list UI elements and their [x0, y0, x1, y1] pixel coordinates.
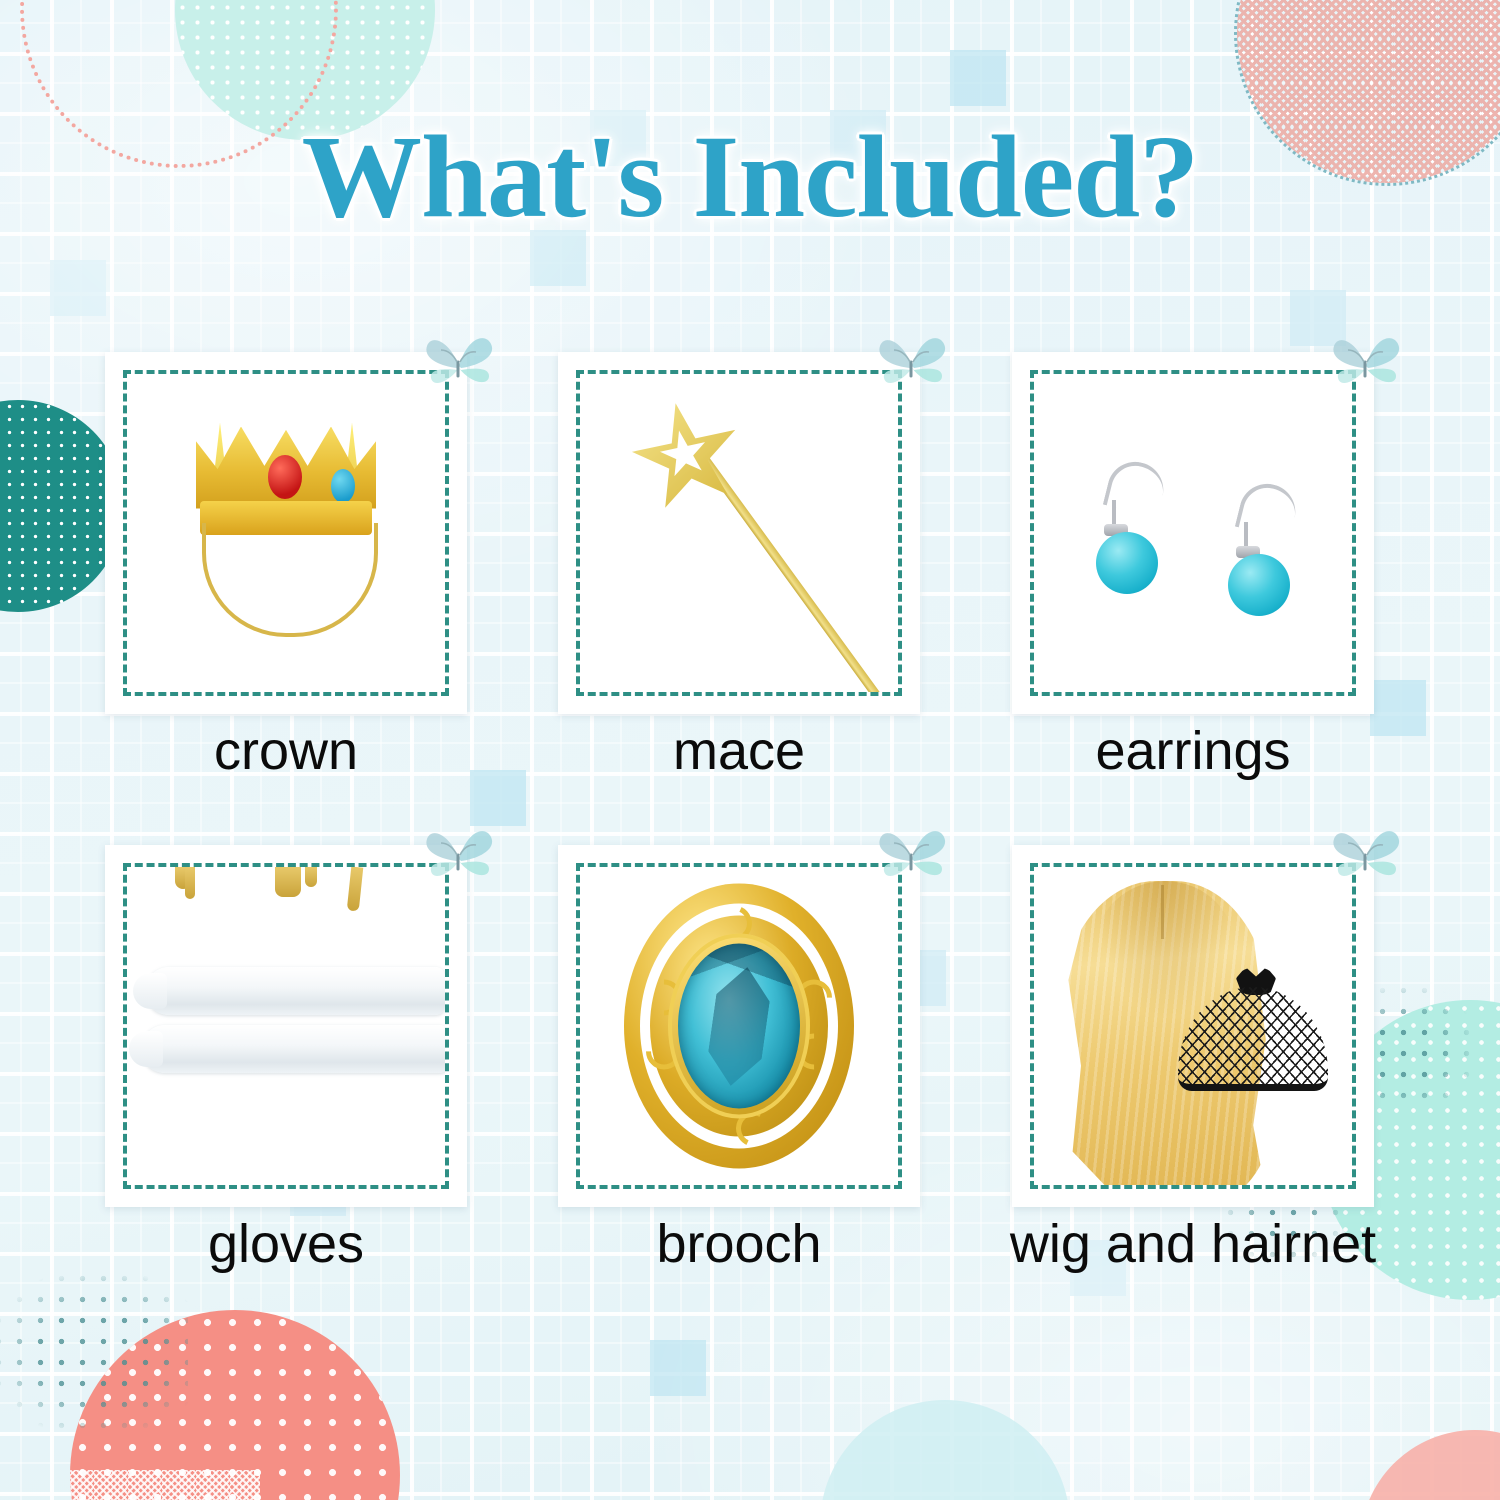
- dashed-frame: [123, 370, 449, 696]
- crown-photo: [127, 374, 445, 692]
- dashed-frame: [576, 370, 902, 696]
- item-card-mace[interactable]: mace: [558, 352, 920, 714]
- dashed-frame: [576, 863, 902, 1189]
- item-caption-gloves: gloves: [105, 1217, 467, 1271]
- dashed-frame: [123, 863, 449, 1189]
- item-caption-mace: mace: [558, 724, 920, 778]
- mace-photo: [580, 374, 898, 692]
- gloves-photo: [127, 867, 445, 1185]
- dot-cluster-bottom-left: [0, 1268, 188, 1438]
- earrings-photo: [1034, 374, 1352, 692]
- dashed-frame: [1030, 370, 1356, 696]
- item-caption-brooch: brooch: [558, 1217, 920, 1271]
- infographic-canvas: What's Included?: [0, 0, 1500, 1500]
- brooch-photo: [580, 867, 898, 1185]
- item-card-earrings[interactable]: earrings: [1012, 352, 1374, 714]
- item-caption-crown: crown: [105, 724, 467, 778]
- item-card-wig-and-hairnet[interactable]: wig and hairnet: [1012, 845, 1374, 1207]
- item-card-gloves[interactable]: gloves: [105, 845, 467, 1207]
- dashed-frame: [1030, 863, 1356, 1189]
- item-caption-wig-and-hairnet: wig and hairnet: [992, 1217, 1394, 1271]
- item-card-crown[interactable]: crown: [105, 352, 467, 714]
- item-caption-earrings: earrings: [1012, 724, 1374, 778]
- wig-hairnet-photo: [1034, 867, 1352, 1185]
- item-card-brooch[interactable]: brooch: [558, 845, 920, 1207]
- page-title: What's Included?: [0, 118, 1500, 236]
